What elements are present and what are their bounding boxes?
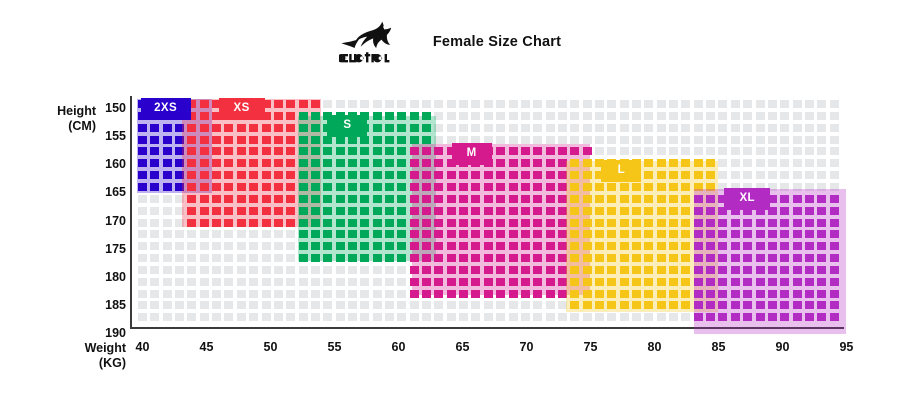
grid-cell-l [657, 195, 666, 203]
grid-cell-xs [187, 124, 196, 132]
grid-cell [780, 112, 789, 120]
grid-cell [434, 301, 443, 309]
grid-cell-xl [718, 254, 727, 262]
grid-cell [632, 100, 641, 108]
grid-cell-l [706, 171, 715, 179]
grid-cell-xs [200, 100, 209, 108]
grid-cell-l [632, 219, 641, 227]
grid-cell [706, 112, 715, 120]
grid-cell [607, 313, 616, 321]
grid-cell-l [583, 290, 592, 298]
grid-cell-m [509, 266, 518, 274]
grid-cell-xl [805, 207, 814, 215]
grid-cell-m [521, 230, 530, 238]
grid-cell [830, 124, 839, 132]
grid-cell [175, 290, 184, 298]
grid-cell-xs [262, 195, 271, 203]
grid-cell [422, 313, 431, 321]
grid-cell-m [434, 242, 443, 250]
grid-cell-xl [817, 207, 826, 215]
grid-cell [644, 136, 653, 144]
grid-cell-xs [262, 207, 271, 215]
grid-cell [607, 124, 616, 132]
grid-cell [138, 313, 147, 321]
grid-cell-xl [793, 290, 802, 298]
grid-cell-m [434, 290, 443, 298]
grid-cell-xl [817, 278, 826, 286]
grid-cell-l [632, 230, 641, 238]
grid-cell-2xs [150, 136, 159, 144]
grid-cell [373, 301, 382, 309]
grid-cell-s [299, 159, 308, 167]
grid-cell [163, 290, 172, 298]
grid-cell-l [620, 254, 629, 262]
grid-cell-xl [805, 219, 814, 227]
grid-cell-xl [780, 254, 789, 262]
grid-cell-xl [743, 219, 752, 227]
grid-cell-xl [731, 290, 740, 298]
grid-cell [274, 278, 283, 286]
grid-cell [212, 242, 221, 250]
grid-cell-s [397, 124, 406, 132]
grid-cell [237, 278, 246, 286]
grid-cell-l [681, 195, 690, 203]
grid-cell [694, 147, 703, 155]
grid-cell [805, 171, 814, 179]
grid-cell [620, 112, 629, 120]
grid-cell [496, 313, 505, 321]
grid-cell-s [323, 159, 332, 167]
grid-cell-s [385, 112, 394, 120]
grid-cell-s [373, 195, 382, 203]
grid-cell-xl [743, 254, 752, 262]
size-chart-plot: Height (CM) Weight (KG) 1501551601651701… [0, 0, 900, 414]
x-axis-title-line1: Weight [48, 341, 126, 356]
grid-cell-s [348, 159, 357, 167]
grid-cell-m [410, 242, 419, 250]
grid-cell-m [410, 266, 419, 274]
y-tick-185: 185 [92, 299, 126, 311]
grid-cell-s [311, 230, 320, 238]
grid-cell-xl [830, 230, 839, 238]
grid-cell [150, 266, 159, 274]
grid-cell-xl [830, 313, 839, 321]
grid-cell-xl [694, 219, 703, 227]
grid-cell-xl [706, 301, 715, 309]
grid-cell-m [422, 266, 431, 274]
grid-cell-xl [780, 278, 789, 286]
grid-cell [447, 124, 456, 132]
grid-cell [200, 242, 209, 250]
grid-cell-l [583, 278, 592, 286]
grid-cell-xs [274, 100, 283, 108]
grid-cell [348, 100, 357, 108]
grid-cell [163, 254, 172, 262]
grid-cell [249, 290, 258, 298]
grid-cell-xs [237, 195, 246, 203]
grid-cell-m [509, 254, 518, 262]
grid-cell-xl [817, 219, 826, 227]
grid-cell-xs [212, 147, 221, 155]
grid-cell-xl [756, 219, 765, 227]
grid-cell-l [583, 230, 592, 238]
grid-cell-s [373, 207, 382, 215]
grid-cell [163, 230, 172, 238]
grid-cell-l [607, 278, 616, 286]
grid-cell-xl [731, 313, 740, 321]
grid-cell-m [546, 171, 555, 179]
grid-cell-xl [780, 242, 789, 250]
grid-cell-xs [187, 183, 196, 191]
grid-cell-xs [200, 112, 209, 120]
grid-cell [323, 301, 332, 309]
grid-cell-l [570, 278, 579, 286]
grid-cell [311, 278, 320, 286]
grid-cell-m [496, 147, 505, 155]
x-tick-40: 40 [123, 341, 163, 353]
grid-cell [459, 124, 468, 132]
grid-cell [150, 207, 159, 215]
grid-cell-s [348, 147, 357, 155]
grid-cell-s [348, 242, 357, 250]
grid-cell-l [644, 301, 653, 309]
grid-cell-l [620, 207, 629, 215]
grid-cell-s [385, 136, 394, 144]
grid-cell-m [484, 254, 493, 262]
grid-cell [731, 136, 740, 144]
grid-cell-xs [224, 124, 233, 132]
grid-cell-s [385, 159, 394, 167]
y-tick-155: 155 [92, 130, 126, 142]
grid-cell [805, 100, 814, 108]
grid-cell [731, 171, 740, 179]
grid-cell [224, 254, 233, 262]
grid-cell-s [299, 183, 308, 191]
grid-cell [237, 230, 246, 238]
grid-cell-l [644, 242, 653, 250]
grid-cell [237, 242, 246, 250]
grid-cell [422, 301, 431, 309]
grid-cell [756, 171, 765, 179]
grid-cell [620, 313, 629, 321]
grid-cell-xl [830, 290, 839, 298]
grid-cell-xl [793, 242, 802, 250]
grid-cell [718, 171, 727, 179]
grid-cell [607, 112, 616, 120]
grid-cell-m [471, 183, 480, 191]
grid-cell-xs [274, 112, 283, 120]
grid-cell-m [546, 147, 555, 155]
grid-cell-s [348, 207, 357, 215]
grid-cell-xs [286, 100, 295, 108]
grid-cell-s [422, 112, 431, 120]
grid-cell [200, 313, 209, 321]
grid-cell [706, 147, 715, 155]
grid-cell [484, 100, 493, 108]
grid-cell [471, 124, 480, 132]
grid-cell-xs [224, 159, 233, 167]
grid-cell [224, 313, 233, 321]
grid-cell-s [311, 242, 320, 250]
grid-cell-s [385, 242, 394, 250]
grid-cell-m [521, 159, 530, 167]
grid-cell-l [669, 254, 678, 262]
grid-cell-xs [200, 195, 209, 203]
grid-cell [546, 112, 555, 120]
grid-cell-m [496, 242, 505, 250]
grid-cell [681, 124, 690, 132]
grid-cell-xl [718, 301, 727, 309]
grid-cell-s [336, 195, 345, 203]
grid-cell [200, 278, 209, 286]
grid-cell [595, 136, 604, 144]
grid-cell [817, 112, 826, 120]
grid-cell-m [496, 207, 505, 215]
grid-cell-xs [212, 207, 221, 215]
grid-cell-l [583, 242, 592, 250]
grid-cell [718, 124, 727, 132]
size-badge-l: L [601, 160, 641, 182]
grid-cell-l [657, 254, 666, 262]
grid-cell-l [570, 266, 579, 274]
grid-cell-s [299, 171, 308, 179]
grid-cell-m [471, 219, 480, 227]
grid-cell [311, 301, 320, 309]
grid-cell-m [471, 207, 480, 215]
grid-cell-xs [237, 159, 246, 167]
grid-cell-l [620, 278, 629, 286]
grid-cell-xs [249, 207, 258, 215]
grid-cell [756, 124, 765, 132]
grid-cell [768, 171, 777, 179]
grid-cell-l [681, 219, 690, 227]
grid-cell-l [595, 301, 604, 309]
grid-cell [385, 290, 394, 298]
grid-cell-m [459, 183, 468, 191]
grid-cell-xl [768, 254, 777, 262]
grid-cell-l [632, 254, 641, 262]
grid-cell-m [496, 266, 505, 274]
grid-cell [212, 266, 221, 274]
grid-cell-m [496, 219, 505, 227]
grid-cell-s [385, 254, 394, 262]
grid-cell-l [570, 254, 579, 262]
grid-cell-xl [793, 219, 802, 227]
grid-cell-m [509, 207, 518, 215]
grid-cell [570, 100, 579, 108]
grid-cell [743, 136, 752, 144]
grid-cell [262, 301, 271, 309]
grid-cell [743, 124, 752, 132]
grid-cell [447, 112, 456, 120]
x-axis-title: Weight (KG) [48, 341, 126, 371]
grid-cell-m [471, 230, 480, 238]
grid-cell-l [607, 207, 616, 215]
grid-cell-s [299, 230, 308, 238]
grid-cell-m [410, 290, 419, 298]
grid-cell-m [533, 219, 542, 227]
x-axis-title-line2: (KG) [48, 356, 126, 371]
grid-cell [484, 112, 493, 120]
grid-cell [657, 100, 666, 108]
grid-cell-l [632, 266, 641, 274]
grid-cell [274, 254, 283, 262]
grid-cell-s [311, 159, 320, 167]
grid-cell-s [311, 207, 320, 215]
grid-cell-m [484, 183, 493, 191]
grid-cell [163, 266, 172, 274]
grid-cell-s [373, 136, 382, 144]
grid-cell-l [595, 195, 604, 203]
grid-cell-xl [793, 195, 802, 203]
grid-cell [496, 100, 505, 108]
grid-cell-xs [224, 183, 233, 191]
size-badge-xl: XL [724, 188, 770, 210]
grid-cell-xs [187, 159, 196, 167]
grid-cell-xl [830, 219, 839, 227]
grid-cell-s [336, 254, 345, 262]
grid-cell-xl [706, 290, 715, 298]
grid-cell-xs [200, 147, 209, 155]
grid-cell-l [657, 159, 666, 167]
grid-cell-xl [706, 219, 715, 227]
grid-cell-m [459, 278, 468, 286]
grid-cell-l [669, 301, 678, 309]
grid-cell-s [323, 207, 332, 215]
grid-cell-xl [805, 290, 814, 298]
grid-cell [175, 313, 184, 321]
grid-cell [669, 313, 678, 321]
grid-cell [718, 159, 727, 167]
grid-cell-m [471, 290, 480, 298]
grid-cell-xl [694, 301, 703, 309]
grid-cell-s [336, 147, 345, 155]
grid-cell-l [570, 230, 579, 238]
grid-cell [644, 147, 653, 155]
grid-cell-xl [718, 278, 727, 286]
grid-cell [768, 100, 777, 108]
grid-cell-xs [249, 159, 258, 167]
grid-cell-xl [731, 301, 740, 309]
grid-cell-xl [756, 313, 765, 321]
grid-cell-s [299, 124, 308, 132]
grid-cell [644, 112, 653, 120]
grid-cell [224, 278, 233, 286]
grid-cell-2xs [138, 136, 147, 144]
grid-cell-s [336, 230, 345, 238]
grid-cell [718, 100, 727, 108]
grid-cell-m [509, 195, 518, 203]
grid-cell-m [422, 278, 431, 286]
grid-cell [410, 301, 419, 309]
grid-cell-xs [286, 195, 295, 203]
grid-cell-m [533, 242, 542, 250]
grid-cell-xs [249, 136, 258, 144]
grid-cell [669, 112, 678, 120]
grid-cell-s [299, 254, 308, 262]
grid-cell-m [459, 266, 468, 274]
y-tick-165: 165 [92, 186, 126, 198]
grid-cell-m [434, 183, 443, 191]
grid-cell-m [434, 219, 443, 227]
grid-cell-m [471, 195, 480, 203]
grid-cell [299, 301, 308, 309]
grid-cell-m [509, 147, 518, 155]
grid-cell [323, 266, 332, 274]
grid-cell [187, 266, 196, 274]
grid-cell [163, 242, 172, 250]
grid-cell [397, 278, 406, 286]
grid-cell-xs [262, 147, 271, 155]
grid-cell-s [422, 136, 431, 144]
grid-cell [620, 136, 629, 144]
grid-cell-l [657, 219, 666, 227]
grid-cell-m [434, 230, 443, 238]
grid-cell [175, 278, 184, 286]
grid-cell [274, 313, 283, 321]
grid-cell-m [496, 183, 505, 191]
grid-cell [521, 100, 530, 108]
grid-cell [496, 124, 505, 132]
grid-cell-s [323, 242, 332, 250]
grid-cell-s [422, 124, 431, 132]
grid-cell-m [509, 183, 518, 191]
grid-cell [793, 147, 802, 155]
grid-cell [373, 100, 382, 108]
grid-cell [731, 100, 740, 108]
grid-cell-xs [311, 100, 320, 108]
grid-cell [521, 136, 530, 144]
grid-cell [509, 124, 518, 132]
grid-cell-xs [262, 219, 271, 227]
grid-cell-l [669, 159, 678, 167]
grid-cell-xs [262, 171, 271, 179]
grid-cell-l [632, 183, 641, 191]
grid-cell-xl [694, 313, 703, 321]
grid-cell-m [570, 147, 579, 155]
grid-cell-xl [817, 313, 826, 321]
grid-cell-l [644, 230, 653, 238]
grid-cell [360, 301, 369, 309]
grid-cell [150, 301, 159, 309]
grid-cell-s [397, 159, 406, 167]
grid-cell-s [323, 254, 332, 262]
grid-cell [533, 124, 542, 132]
grid-cell-xl [706, 207, 715, 215]
grid-cell-m [459, 171, 468, 179]
grid-cell-xs [237, 183, 246, 191]
grid-cell-l [570, 171, 579, 179]
grid-cell [163, 207, 172, 215]
grid-cell [360, 313, 369, 321]
grid-cell-s [311, 195, 320, 203]
grid-cell-xl [780, 219, 789, 227]
grid-cell [805, 112, 814, 120]
grid-cell-l [632, 195, 641, 203]
grid-cell-l [669, 183, 678, 191]
grid-cell-xl [768, 230, 777, 238]
grid-cell-m [521, 195, 530, 203]
grid-cell-xl [718, 219, 727, 227]
grid-cell [385, 100, 394, 108]
grid-cell [657, 147, 666, 155]
grid-cell [558, 124, 567, 132]
grid-cell [830, 159, 839, 167]
grid-cell-s [360, 159, 369, 167]
grid-cell [546, 136, 555, 144]
grid-cell [262, 313, 271, 321]
grid-cell-m [459, 230, 468, 238]
